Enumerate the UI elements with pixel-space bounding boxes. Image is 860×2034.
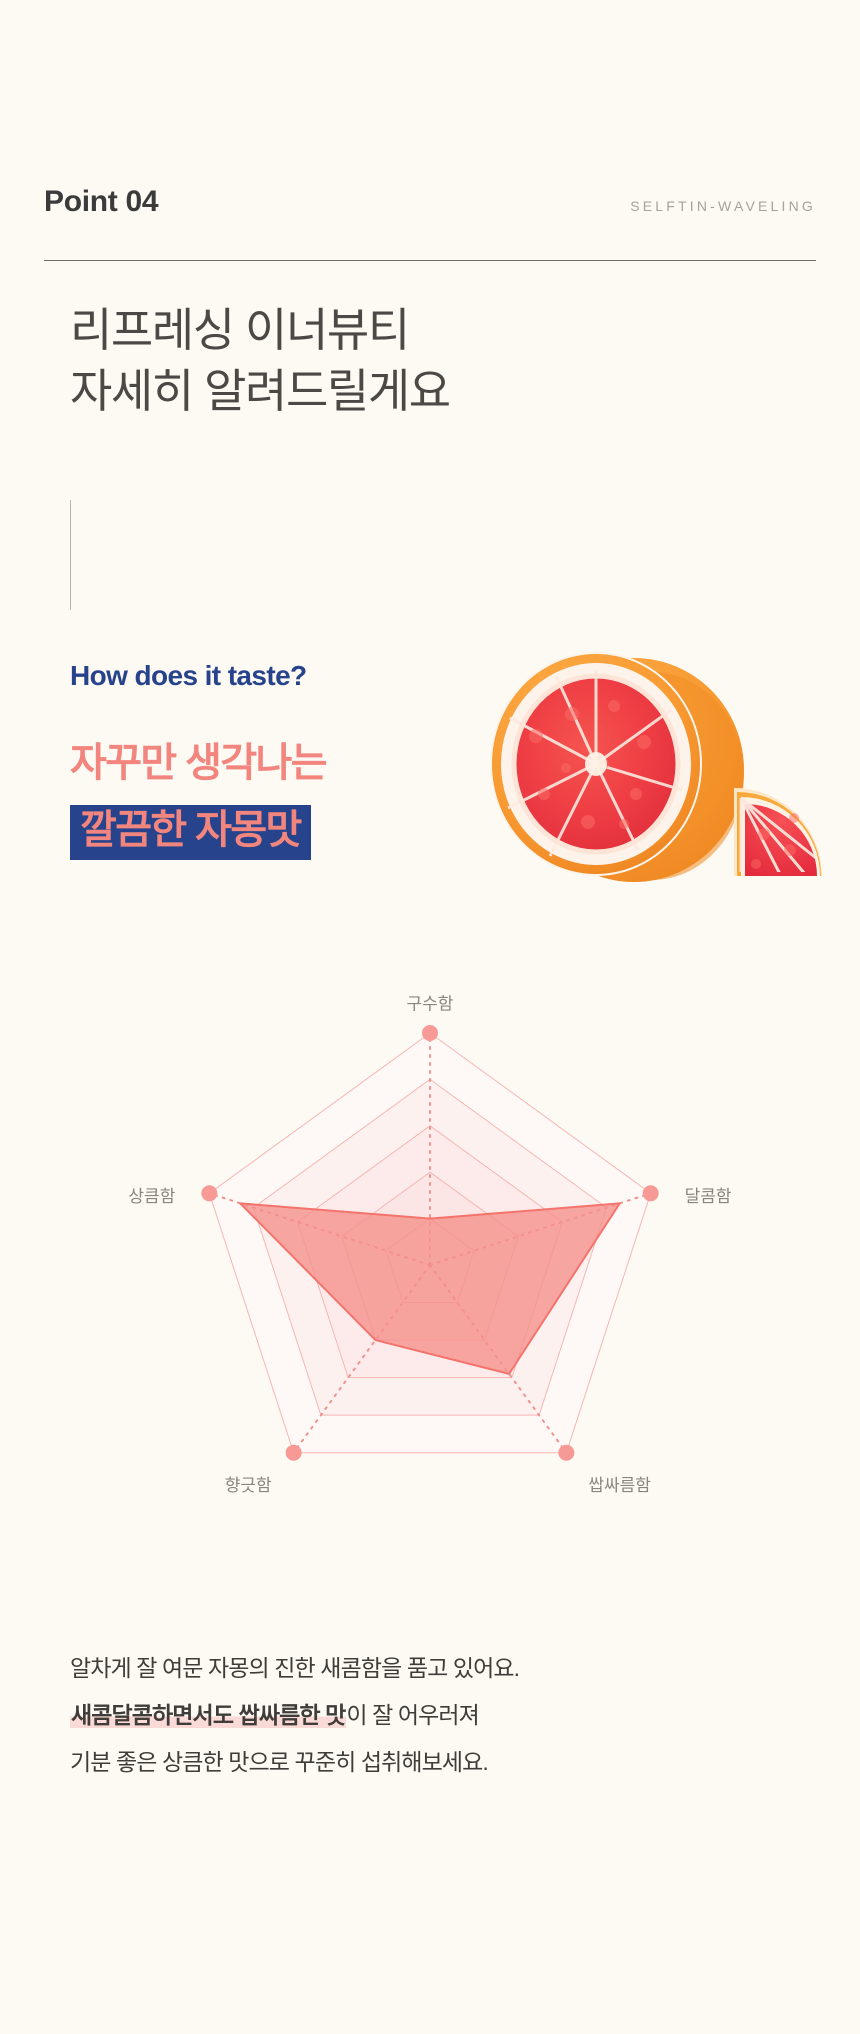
header-divider <box>44 260 816 261</box>
brand-label: SELFTIN-WAVELING <box>630 198 816 214</box>
taste-radar-chart: 구수함달콤함쌉싸름함향긋함상큼함 <box>110 975 750 1555</box>
radar-axis-label-3: 향긋함 <box>225 1476 272 1495</box>
radar-axis-label-1: 달콤함 <box>685 1187 732 1206</box>
radar-axis-label-2: 쌉싸름함 <box>588 1476 651 1495</box>
section-header: Point 04 SELFTIN-WAVELING <box>44 185 816 219</box>
radar-axis-label-4: 상큼함 <box>128 1187 175 1206</box>
copy-line-1: 알차게 잘 여문 자몽의 진한 새콤함을 품고 있어요. <box>70 1645 810 1692</box>
taste-highlight-wrapper: 깔끔한 자몽맛 <box>70 805 311 860</box>
copy-line-2: 새콤달콤하면서도 쌉싸름한 맛이 잘 어우러져 <box>70 1692 810 1739</box>
product-detail-page: Point 04 SELFTIN-WAVELING 리프레싱 이너뷰티 자세히 … <box>0 0 860 2034</box>
copy-highlight: 새콤달콤하면서도 쌉싸름한 맛 <box>70 1702 346 1728</box>
copy-line-2-rest: 이 잘 어우러져 <box>346 1702 479 1728</box>
taste-highlight: 깔끔한 자몽맛 <box>70 805 311 860</box>
taste-question: How does it taste? <box>70 660 307 692</box>
vertical-accent-rule <box>70 500 71 610</box>
copy-line-3: 기분 좋은 상큼한 맛으로 꾸준히 섭취해보세요. <box>70 1739 810 1786</box>
page-title: Point 04 <box>44 185 158 219</box>
description-copy: 알차게 잘 여문 자몽의 진한 새콤함을 품고 있어요. 새콤달콤하면서도 쌉싸… <box>70 1645 810 1786</box>
taste-subtitle: 자꾸만 생각나는 <box>70 730 326 788</box>
radar-axis-label-0: 구수함 <box>407 994 454 1013</box>
section-heading: 리프레싱 이너뷰티 자세히 알려드릴게요 <box>70 300 450 421</box>
grapefruit-image <box>438 618 838 918</box>
